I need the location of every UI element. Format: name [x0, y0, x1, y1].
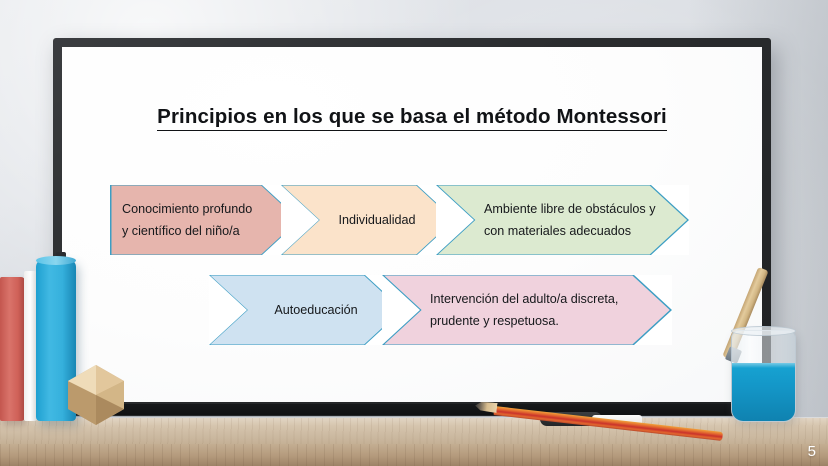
chevron-intervencion[interactable]: Intervención del adulto/a discreta, prud… [382, 275, 672, 345]
chevron-ambiente[interactable]: Ambiente libre de obstáculos y con mater… [436, 185, 689, 255]
whiteboard-frame: Principios en los que se basa el método … [53, 38, 771, 416]
chevron-label-line2: prudente y respetuosa. [430, 310, 618, 332]
wooden-polyhedron-icon [62, 365, 130, 427]
chevron-label-line1: Intervención del adulto/a discreta, [430, 288, 618, 310]
chevron-conocimiento[interactable]: Conocimiento profundo y científico del n… [110, 185, 300, 255]
page-title-text: Principios en los que se basa el método … [157, 105, 667, 131]
chevron-autoeducacion[interactable]: Autoeducación [209, 275, 403, 345]
slide-content: Principios en los que se basa el método … [62, 47, 762, 402]
jar-liquid [732, 363, 795, 421]
chevron-label-line1: Ambiente libre de obstáculos y [484, 198, 656, 220]
whiteboard-tray [56, 404, 768, 415]
chevron-label-line2: y científico del niño/a [122, 220, 252, 242]
book-blue-top [36, 256, 76, 265]
chevron-label-line1: Conocimiento profundo [122, 198, 252, 220]
chevron-label-line2: con materiales adecuados [484, 220, 656, 242]
chevron-label-line1: Autoeducación [274, 299, 357, 321]
page-title: Principios en los que se basa el método … [62, 105, 762, 129]
chevron-individualidad[interactable]: Individualidad [281, 185, 455, 255]
whiteboard-surface: Principios en los que se basa el método … [62, 47, 762, 402]
jar-rim [731, 326, 796, 336]
book-red [0, 277, 25, 421]
chevron-label-line1: Individualidad [338, 209, 415, 231]
classroom-scene: Principios en los que se basa el método … [0, 0, 828, 466]
page-number: 5 [808, 443, 816, 460]
shelf-front [0, 444, 828, 466]
glass-jar [731, 330, 796, 422]
